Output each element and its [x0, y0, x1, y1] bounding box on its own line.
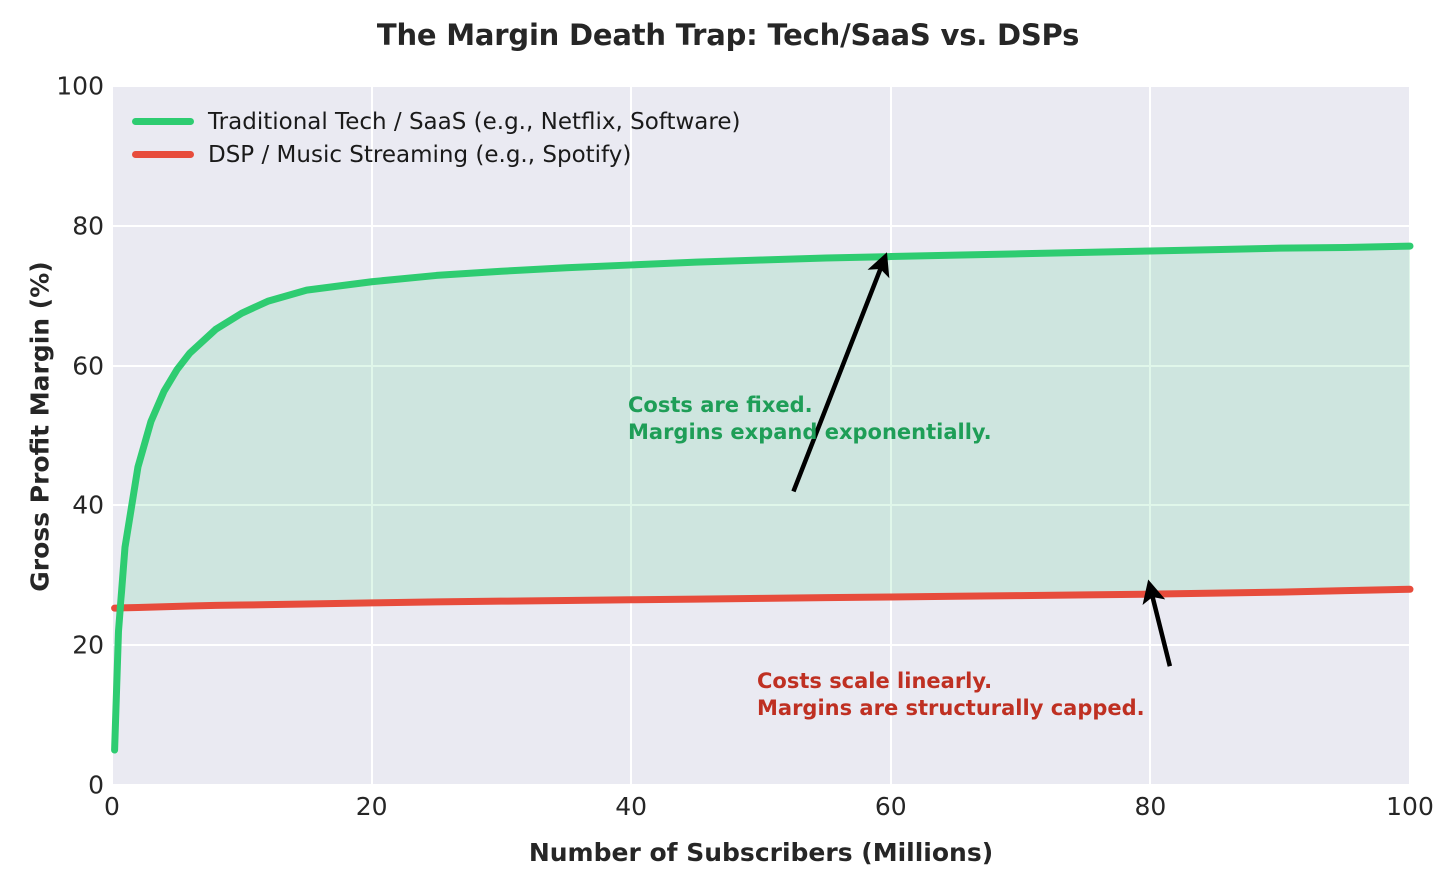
- legend-label-tech: Traditional Tech / SaaS (e.g., Netflix, …: [208, 109, 740, 135]
- chart-legend: Traditional Tech / SaaS (e.g., Netflix, …: [124, 103, 748, 175]
- x-tick-label: 20: [322, 792, 422, 821]
- annotation-dsp: Costs scale linearly.Margins are structu…: [757, 668, 1145, 722]
- annotation-dsp-line2: Margins are structurally capped.: [757, 696, 1145, 720]
- chart-figure: The Margin Death Trap: Tech/SaaS vs. DSP…: [0, 0, 1456, 874]
- y-axis-label: Gross Profit Margin (%): [26, 77, 55, 777]
- legend-label-dsp: DSP / Music Streaming (e.g., Spotify): [208, 142, 631, 168]
- x-tick-label: 80: [1100, 792, 1200, 821]
- x-axis-label: Number of Subscribers (Millions): [112, 838, 1410, 867]
- legend-item-dsp[interactable]: DSP / Music Streaming (e.g., Spotify): [132, 138, 740, 171]
- legend-swatch-dsp: [132, 151, 194, 158]
- x-tick-label: 100: [1360, 792, 1456, 821]
- x-tick-label: 40: [581, 792, 681, 821]
- annotation-arrow-dsp: [1152, 593, 1170, 666]
- legend-swatch-tech: [132, 118, 194, 125]
- annotation-tech-line2: Margins expand exponentially.: [628, 420, 992, 444]
- x-axis-ticks: 020406080100: [112, 792, 1410, 828]
- legend-item-tech[interactable]: Traditional Tech / SaaS (e.g., Netflix, …: [132, 105, 740, 138]
- x-tick-label: 0: [62, 792, 162, 821]
- annotation-dsp-line1: Costs scale linearly.: [757, 669, 992, 693]
- x-tick-label: 60: [841, 792, 941, 821]
- annotation-tech-line1: Costs are fixed.: [628, 393, 813, 417]
- annotation-tech: Costs are fixed.Margins expand exponenti…: [628, 392, 992, 446]
- chart-title: The Margin Death Trap: Tech/SaaS vs. DSP…: [0, 18, 1456, 52]
